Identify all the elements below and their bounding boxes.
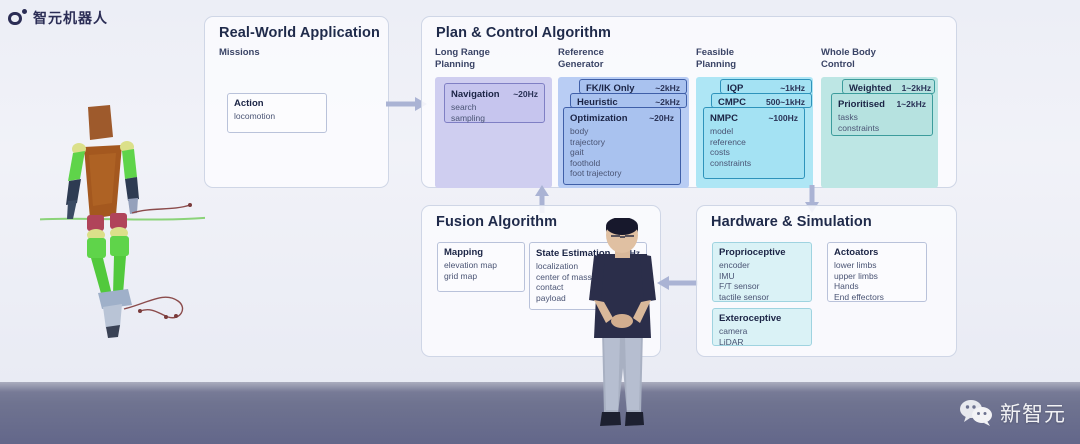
card-proprioceptive-name: Proprioceptive (719, 247, 796, 259)
label-whole-body-control: Whole Body Control (821, 47, 876, 70)
panel-title-real-world: Real-World Application (219, 25, 380, 41)
stub-cmpc: CMPC 500~1kHz (711, 93, 812, 108)
card-prioritised-body: tasks constraints (838, 112, 926, 133)
card-prioritised-name: Prioritised (838, 99, 895, 111)
card-mapping-name: Mapping (444, 247, 493, 259)
stub-fk-ik-only: FK/IK Only ~2kHz (579, 79, 687, 94)
zhiyuan-mark-icon (8, 9, 27, 28)
card-nmpc-body: model reference costs constraints (710, 126, 798, 168)
card-nmpc: NMPC ~100Hz model reference costs constr… (703, 107, 805, 179)
card-prioritised: Prioritised 1~2kHz tasks constraints (831, 93, 933, 136)
speaker-person (575, 218, 670, 444)
card-proprioceptive: Proprioceptive encoder IMU F/T sensor ta… (712, 242, 812, 302)
card-action: Action locomotion (227, 93, 327, 133)
panel-plan-control-algorithm: Plan & Control Algorithm Long Range Plan… (421, 16, 957, 188)
panel-title-fusion: Fusion Algorithm (436, 214, 557, 230)
panel-hardware-simulation: Hardware & Simulation Proprioceptive enc… (696, 205, 957, 357)
label-reference-generator: Reference Generator (558, 47, 604, 70)
card-actoators-name: Actoators (834, 247, 888, 259)
card-action-name: Action (234, 98, 274, 110)
floor-reflection (0, 382, 1080, 392)
label-missions: Missions (219, 47, 260, 59)
card-mapping: Mapping elevation map grid map (437, 242, 525, 292)
card-exteroceptive: Exteroceptive camera LiDAR (712, 308, 812, 346)
card-navigation: Navigation ~20Hz search sampling (444, 83, 545, 123)
stub-weighted: Weighted 1~2kHz (842, 79, 935, 94)
card-exteroceptive-body: camera LiDAR (719, 326, 805, 347)
card-nmpc-hz: ~100Hz (768, 112, 798, 124)
stub-heuristic: Heuristic ~2kHz (570, 93, 687, 108)
card-action-body: locomotion (234, 111, 320, 122)
label-feasible-planning: Feasible Planning (696, 47, 736, 70)
card-mapping-body: elevation map grid map (444, 260, 518, 281)
card-proprioceptive-body: encoder IMU F/T sensor tactile sensor (719, 260, 805, 302)
watermark: 新智元 (959, 398, 1066, 428)
card-exteroceptive-name: Exteroceptive (719, 313, 791, 325)
panel-title-plan-control: Plan & Control Algorithm (436, 25, 611, 41)
brand-logo: 智元机器人 (8, 8, 108, 28)
card-navigation-hz: ~20Hz (513, 88, 538, 100)
panel-real-world-application: Real-World Application Missions Action l… (204, 16, 389, 188)
label-long-range-planning: Long Range Planning (435, 47, 490, 70)
card-actoators: Actoators lower limbs upper limbs Hands … (827, 242, 927, 302)
stub-iqp: IQP ~1kHz (720, 79, 812, 94)
presentation-slide: 智元机器人 Real-World Application Missions Ac… (0, 0, 1080, 382)
card-prioritised-hz: 1~2kHz (896, 98, 926, 110)
watermark-text: 新智元 (1000, 398, 1066, 428)
brand-logo-text: 智元机器人 (33, 8, 108, 28)
wechat-icon (959, 399, 993, 427)
card-actoators-body: lower limbs upper limbs Hands End effect… (834, 260, 920, 302)
panel-title-hardware: Hardware & Simulation (711, 214, 872, 230)
card-optimization-hz: ~20Hz (649, 112, 674, 124)
card-optimization-body: body trajectory gait foothold foot traje… (570, 126, 674, 179)
card-nmpc-name: NMPC (710, 113, 748, 125)
card-optimization: Optimization ~20Hz body trajectory gait … (563, 107, 681, 185)
robot-simulation-figure (40, 95, 205, 340)
card-optimization-name: Optimization (570, 113, 638, 125)
card-navigation-body: search sampling (451, 102, 538, 123)
card-navigation-name: Navigation (451, 89, 510, 101)
